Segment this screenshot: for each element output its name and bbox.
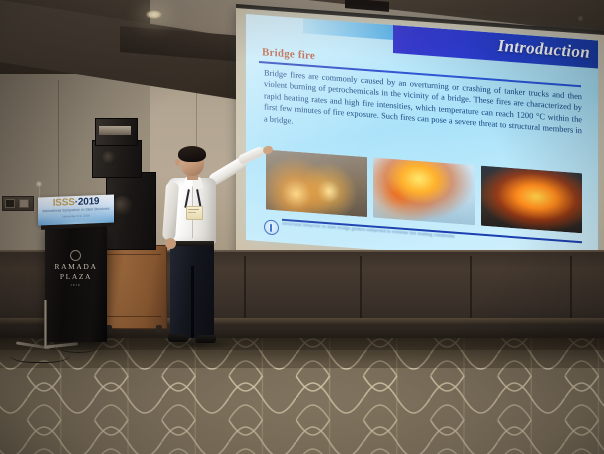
speaker-cone-icon <box>112 196 132 216</box>
conference-banner: ISSS·2019 International Symposium on Ste… <box>38 195 114 226</box>
mic-stand-pole <box>44 300 47 348</box>
slide-photo-large-fireball-bridge-fire <box>481 166 582 234</box>
slide-body-text: Bridge fires are commonly caused by an o… <box>264 67 582 148</box>
floor-cable <box>55 338 101 353</box>
presenter-hair <box>178 146 206 162</box>
presenter <box>160 148 224 344</box>
presenter-belt <box>170 241 214 246</box>
presenter-shoe <box>168 334 188 342</box>
microphone-icon <box>35 181 43 187</box>
presenter-ear <box>175 159 180 166</box>
power-outlet-icon <box>5 199 15 208</box>
university-logo-icon <box>264 219 279 235</box>
banner-year: 2019 <box>78 196 99 208</box>
recessed-ceiling-light <box>146 10 162 19</box>
badge-text-line <box>188 209 199 210</box>
projected-slide: Introduction Bridge fire Bridge fires ar… <box>246 14 598 266</box>
slide-photo-tanker-truck-fire-under-bridge <box>266 150 367 218</box>
hotel-brand-line-2: PLAZA <box>48 272 104 281</box>
presenter-leg-gap <box>191 266 194 338</box>
slide-subtitle: Bridge fire <box>262 46 315 62</box>
wainscot-panel-divider <box>360 256 362 318</box>
cabinet-seam <box>107 316 161 317</box>
wainscot-panel-divider <box>570 256 572 318</box>
hotel-logo-icon <box>70 250 81 261</box>
slide-photo-burning-tanker-truck-daytime <box>373 158 474 226</box>
hotel-brand-line-1: RAMADA <box>48 262 104 271</box>
sprinkler-head-icon <box>578 16 583 21</box>
speaker-horn-icon <box>99 126 131 135</box>
power-outlet-icon <box>19 199 29 208</box>
conference-room-photo: Introduction Bridge fire Bridge fires ar… <box>0 0 604 454</box>
presenter-hand <box>165 238 176 249</box>
wainscot-panel-divider <box>244 256 246 318</box>
cabinet-seam <box>107 254 161 255</box>
badge-text-line <box>188 212 196 213</box>
presenter-shoe <box>195 335 216 343</box>
banner-acronym: ISSS <box>53 197 75 209</box>
hotel-brand-line-3: JEJU <box>48 283 104 287</box>
speaker-cone-icon <box>102 151 116 165</box>
wainscot-panel-divider <box>470 256 472 318</box>
